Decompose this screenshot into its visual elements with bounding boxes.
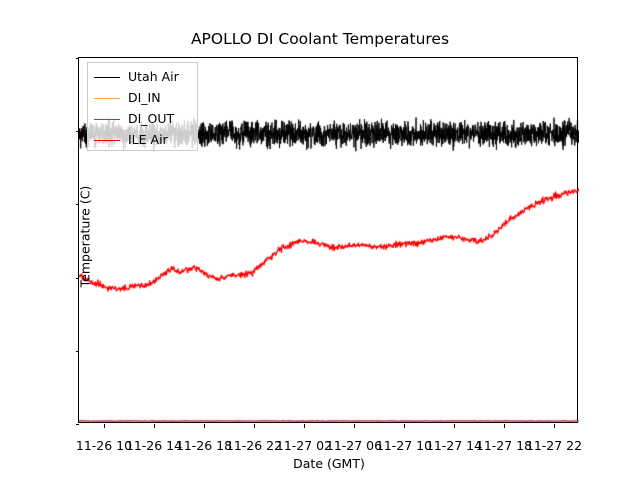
- y-tick-mark: [76, 58, 80, 59]
- x-tick-mark: [454, 424, 455, 428]
- legend-item[interactable]: DI_OUT: [88, 109, 197, 130]
- y-tick-mark: [76, 351, 80, 352]
- chart-legend: Utah AirDI_INDI_OUTILE Air: [87, 62, 198, 151]
- legend-swatch: [94, 77, 120, 78]
- legend-swatch: [94, 140, 120, 141]
- x-tick-mark: [204, 424, 205, 428]
- legend-label: DI_IN: [128, 92, 161, 105]
- x-tick-mark: [254, 424, 255, 428]
- y-tick-mark: [76, 131, 80, 132]
- legend-label: Utah Air: [128, 71, 179, 84]
- y-tick-mark: [76, 424, 80, 425]
- legend-label: DI_OUT: [128, 113, 174, 126]
- x-axis-label: Date (GMT): [79, 456, 579, 471]
- legend-label: ILE Air: [128, 134, 168, 147]
- x-tick-mark: [404, 424, 405, 428]
- legend-swatch: [94, 119, 120, 120]
- legend-item[interactable]: DI_IN: [88, 88, 197, 109]
- x-tick-label: 11-27 22: [494, 438, 614, 453]
- x-tick-mark: [154, 424, 155, 428]
- legend-item[interactable]: Utah Air: [88, 67, 197, 88]
- chart-figure: APOLLO DI Coolant Temperatures Temperatu…: [0, 0, 640, 480]
- x-tick-mark: [504, 424, 505, 428]
- x-tick-mark: [554, 424, 555, 428]
- plot-area: Temperature (C) Date (GMT) 0510152025 11…: [78, 57, 578, 423]
- x-tick-mark: [104, 424, 105, 428]
- y-tick-mark: [76, 278, 80, 279]
- legend-item[interactable]: ILE Air: [88, 130, 197, 151]
- x-tick-mark: [354, 424, 355, 428]
- chart-title: APOLLO DI Coolant Temperatures: [0, 30, 640, 48]
- legend-swatch: [94, 98, 120, 99]
- y-tick-mark: [76, 204, 80, 205]
- x-tick-mark: [304, 424, 305, 428]
